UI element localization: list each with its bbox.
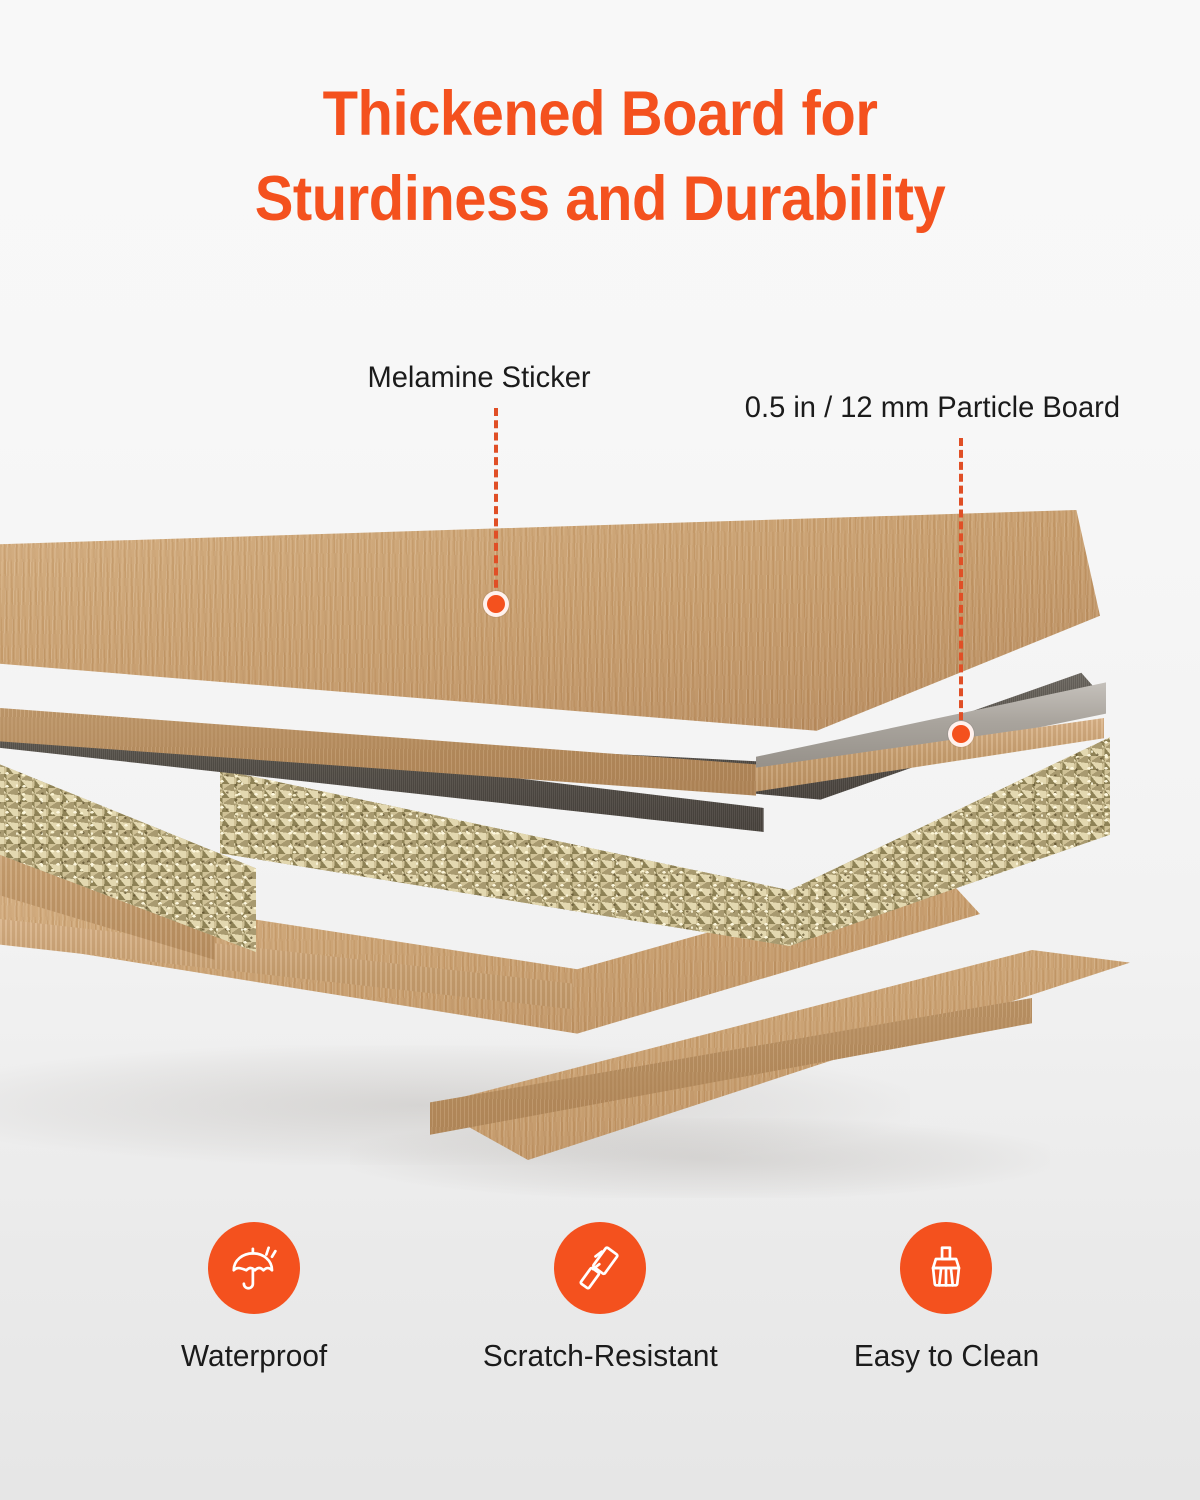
callout-label-particle-board: 0.5 in / 12 mm Particle Board — [745, 389, 1120, 427]
callout-label-melamine: Melamine Sticker — [367, 359, 590, 397]
feature-label-scratch-resistant: Scratch-Resistant — [483, 1338, 718, 1374]
feature-waterproof: Waterproof — [129, 1222, 379, 1374]
umbrella-icon — [227, 1241, 281, 1295]
callout-dot-melamine — [483, 591, 509, 617]
melamine-top-face — [0, 510, 1100, 740]
feature-row: Waterproof Scratch-Resistant — [0, 1222, 1200, 1374]
feature-label-easy-to-clean: Easy to Clean — [853, 1338, 1038, 1374]
feature-icon-badge-easy-to-clean — [900, 1222, 992, 1314]
page-title: Thickened Board for Sturdiness and Durab… — [48, 72, 1152, 242]
callout-dot-particle-board — [948, 721, 974, 747]
hammer-icon — [573, 1241, 627, 1295]
feature-icon-badge-scratch-resistant — [554, 1222, 646, 1314]
board-illustration — [0, 470, 1200, 1170]
callout-leader-melamine — [494, 408, 498, 600]
callout-leader-particle-board — [959, 438, 963, 732]
infographic-page: Thickened Board for Sturdiness and Durab… — [0, 0, 1200, 1500]
feature-scratch-resistant: Scratch-Resistant — [475, 1222, 725, 1374]
feature-icon-badge-waterproof — [208, 1222, 300, 1314]
feature-label-waterproof: Waterproof — [181, 1338, 327, 1374]
feature-easy-to-clean: Easy to Clean — [821, 1222, 1071, 1374]
broom-icon — [919, 1241, 973, 1295]
